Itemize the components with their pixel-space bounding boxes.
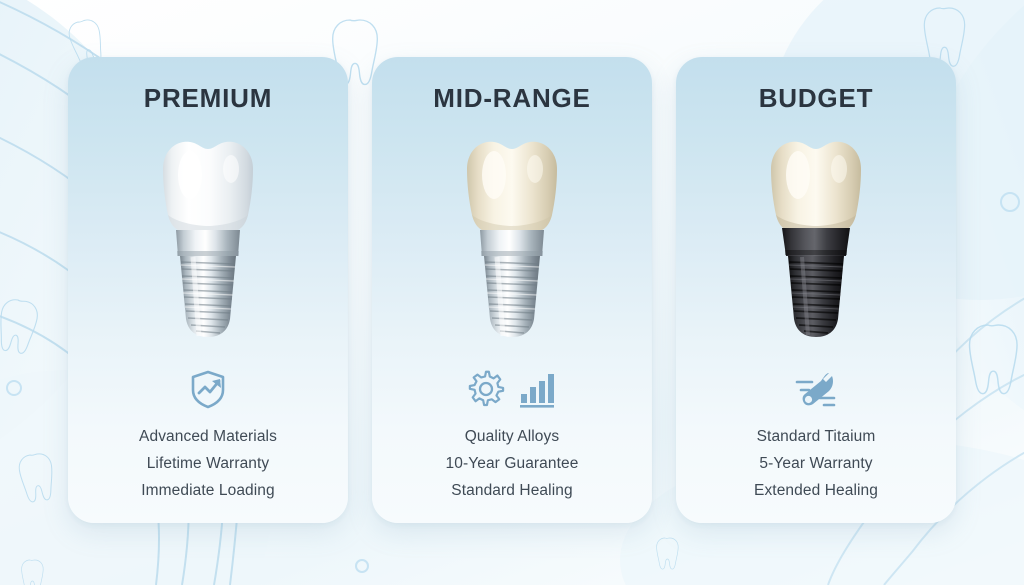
wrench-icon [793,367,839,411]
tier-title-premium: PREMIUM [144,85,272,111]
implant-image-mid-range [422,123,602,353]
crown-shape-mid-range [467,142,557,233]
crown-shape-premium [163,142,253,233]
implant-image-budget [726,123,906,353]
implant-image-premium [118,123,298,353]
feature-item: Advanced Materials [139,427,277,448]
feature-item: Standard Healing [451,481,572,502]
feature-item: 5-Year Warranty [759,454,872,475]
feature-item: Extended Healing [754,481,878,502]
feature-item: Lifetime Warranty [147,454,270,475]
tier-title-budget: BUDGET [759,85,874,111]
bar-chart-icon [517,369,557,409]
tier-card-list: PREMIUM [68,57,956,523]
feature-item: Quality Alloys [465,427,559,448]
features-premium: Advanced Materials Lifetime Warranty Imm… [68,427,348,502]
features-mid-range: Quality Alloys 10-Year Guarantee Standar… [372,427,652,502]
gear-icon [467,369,507,409]
feature-item: Immediate Loading [141,481,275,502]
shield-growth-icon [186,367,230,411]
features-budget: Standard Titaium 5-Year Warranty Extende… [676,427,956,502]
benefit-icons-budget [793,363,839,415]
tier-card-mid-range[interactable]: MID-RANGE [372,57,652,523]
feature-item: Standard Titaium [757,427,876,448]
tier-title-mid-range: MID-RANGE [433,85,590,111]
feature-item: 10-Year Guarantee [446,454,579,475]
crown-shape-budget [771,142,861,233]
benefit-icons-premium [186,363,230,415]
tier-card-premium[interactable]: PREMIUM [68,57,348,523]
benefit-icons-mid-range [467,363,557,415]
tier-card-budget[interactable]: BUDGET [676,57,956,523]
infographic-stage: PREMIUM [0,0,1024,585]
